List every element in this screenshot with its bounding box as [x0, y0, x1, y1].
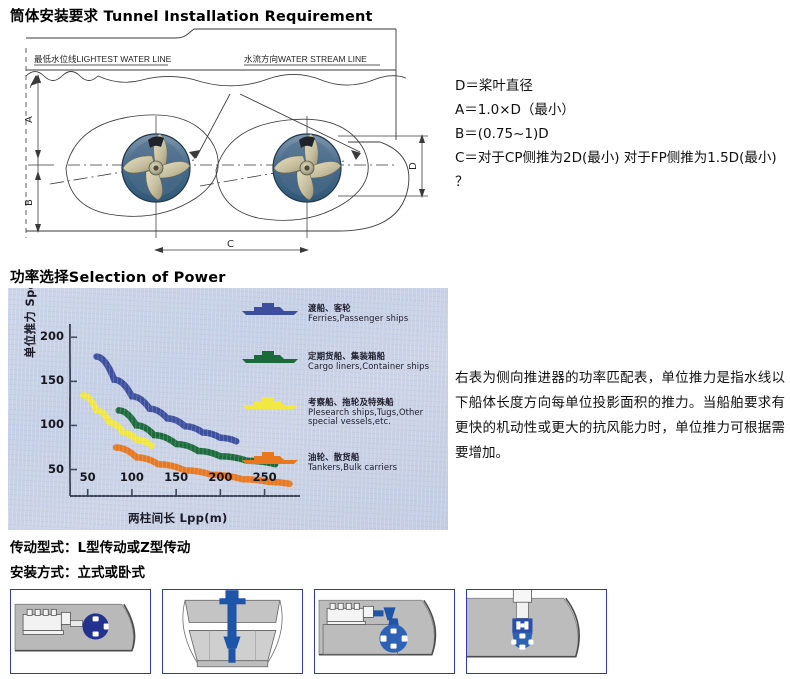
- legend-ship-icon-3: [240, 395, 300, 415]
- thumbnail-vertical-l-drive-tunnel-section: [162, 589, 303, 674]
- dimension-a-label: A: [24, 116, 35, 123]
- dimension-d-label: D: [408, 162, 419, 170]
- chart-y-tick-50: 50: [36, 462, 64, 476]
- legend-label-en-3: Plesearch ships,Tugs,Other special vesse…: [308, 408, 446, 427]
- specific-thrust-chart: 单位推力 Specific thrust(N/m²) 两柱间长 Lpp(m) 5…: [8, 288, 448, 530]
- thumb-3-svg: [315, 590, 454, 673]
- chart-x-axis-title: 两柱间长 Lpp(m): [128, 510, 228, 526]
- label-water-stream-line: 水流方向WATER STREAM LINE: [244, 54, 367, 64]
- legend-item-2: 定期货船、集装箱船Cargo liners,Container ships: [308, 352, 446, 371]
- thumbnail-horizontal-engine-propeller-hull: [314, 589, 455, 674]
- dimension-b-label: B: [24, 199, 35, 206]
- tunnel-spec-list: D＝桨叶直径 A＝1.0×D（最小） B＝(0.75~1)D C＝对于CP侧推为…: [455, 74, 780, 194]
- thumbnail-vertical-drive-unit-hull: [466, 589, 607, 674]
- tunnel-drawing-svg: 最低水位线LIGHTEST WATER LINE 水流方向WATER STREA…: [8, 28, 448, 260]
- chart-x-tick-200: 200: [204, 470, 236, 484]
- thumb-1-svg: [11, 590, 150, 673]
- legend-item-4: 油轮、散货船Tankers,Bulk carriers: [308, 453, 446, 472]
- spec-line-c: C＝对于CP侧推为2D(最小) 对于FP侧推为1.5D(最小): [455, 146, 780, 170]
- chart-y-tick-200: 200: [36, 329, 64, 343]
- label-lightest-water-line: 最低水位线LIGHTEST WATER LINE: [34, 54, 172, 64]
- mounting-type-line: 安装方式：立式或卧式: [10, 561, 145, 581]
- propeller-right: [273, 134, 341, 202]
- legend-ship-icon-4: [240, 450, 300, 470]
- thumb-2-svg: [163, 590, 302, 673]
- chart-x-tick-150: 150: [160, 470, 192, 484]
- page-title-power: 功率选择Selection of Power: [10, 266, 226, 287]
- chart-y-tick-150: 150: [36, 373, 64, 387]
- legend-ship-icon-2: [240, 349, 300, 369]
- chart-y-tick-100: 100: [36, 417, 64, 431]
- spec-line-a: A＝1.0×D（最小）: [455, 98, 780, 122]
- chart-x-tick-100: 100: [116, 470, 148, 484]
- legend-label-en-2: Cargo liners,Container ships: [308, 362, 446, 372]
- chart-x-tick-50: 50: [72, 470, 104, 484]
- spec-line-d: D＝桨叶直径: [455, 74, 780, 98]
- propeller-left: [122, 134, 190, 202]
- spec-line-question: ？: [455, 170, 780, 194]
- legend-label-en-4: Tankers,Bulk carriers: [308, 463, 446, 473]
- chart-x-tick-250: 250: [249, 470, 281, 484]
- power-selection-note: 右表为侧向推进器的功率匹配表，单位推力是指水线以下船体长度方向每单位投影面积的推…: [455, 366, 785, 466]
- drive-type-line: 传动型式：L型传动或Z型传动: [10, 536, 190, 556]
- thumbnail-horizontal-engine-drive-bow-thruster: [10, 589, 151, 674]
- legend-item-1: 渡船、客轮Ferries,Passenger ships: [308, 304, 446, 323]
- dimension-c-label: C: [227, 239, 234, 250]
- legend-item-3: 考察船、拖轮及特殊船Plesearch ships,Tugs,Other spe…: [308, 398, 446, 427]
- thumb-4-svg: [467, 590, 606, 673]
- tunnel-installation-drawing: 最低水位线LIGHTEST WATER LINE 水流方向WATER STREA…: [8, 28, 448, 260]
- page-title-tunnel: 筒体安装要求 Tunnel Installation Requirement: [10, 5, 373, 26]
- legend-label-en-1: Ferries,Passenger ships: [308, 314, 446, 324]
- spec-line-b: B＝(0.75~1)D: [455, 122, 780, 146]
- legend-ship-icon-1: [240, 301, 300, 321]
- chart-y-axis-title: 单位推力 Specific thrust(N/m²): [22, 288, 38, 358]
